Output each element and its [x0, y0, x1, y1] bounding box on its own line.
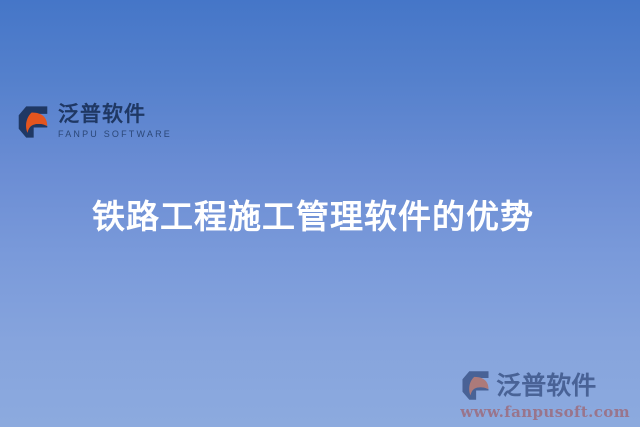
fanpu-hexagon-swoosh-logo-icon	[16, 105, 50, 139]
watermark: 泛普软件 www.fanpusoft.com	[460, 370, 630, 421]
fanpu-hexagon-swoosh-logo-icon	[460, 370, 491, 401]
watermark-logo-row: 泛普软件	[460, 370, 630, 401]
brand-name-cn: 泛普软件	[58, 104, 172, 125]
page-title: 铁路工程施工管理软件的优势	[92, 196, 534, 237]
brand-name-en: FANPU SOFTWARE	[58, 130, 172, 139]
headline-container: 铁路工程施工管理软件的优势	[0, 196, 640, 237]
watermark-name-cn: 泛普软件	[496, 373, 596, 398]
brand-text-block: 泛普软件 FANPU SOFTWARE	[58, 104, 172, 139]
brand-logo: 泛普软件 FANPU SOFTWARE	[16, 104, 172, 139]
watermark-url: www.fanpusoft.com	[460, 403, 630, 421]
banner-image: 泛普软件 FANPU SOFTWARE 铁路工程施工管理软件的优势 泛普软件 w…	[0, 0, 640, 427]
